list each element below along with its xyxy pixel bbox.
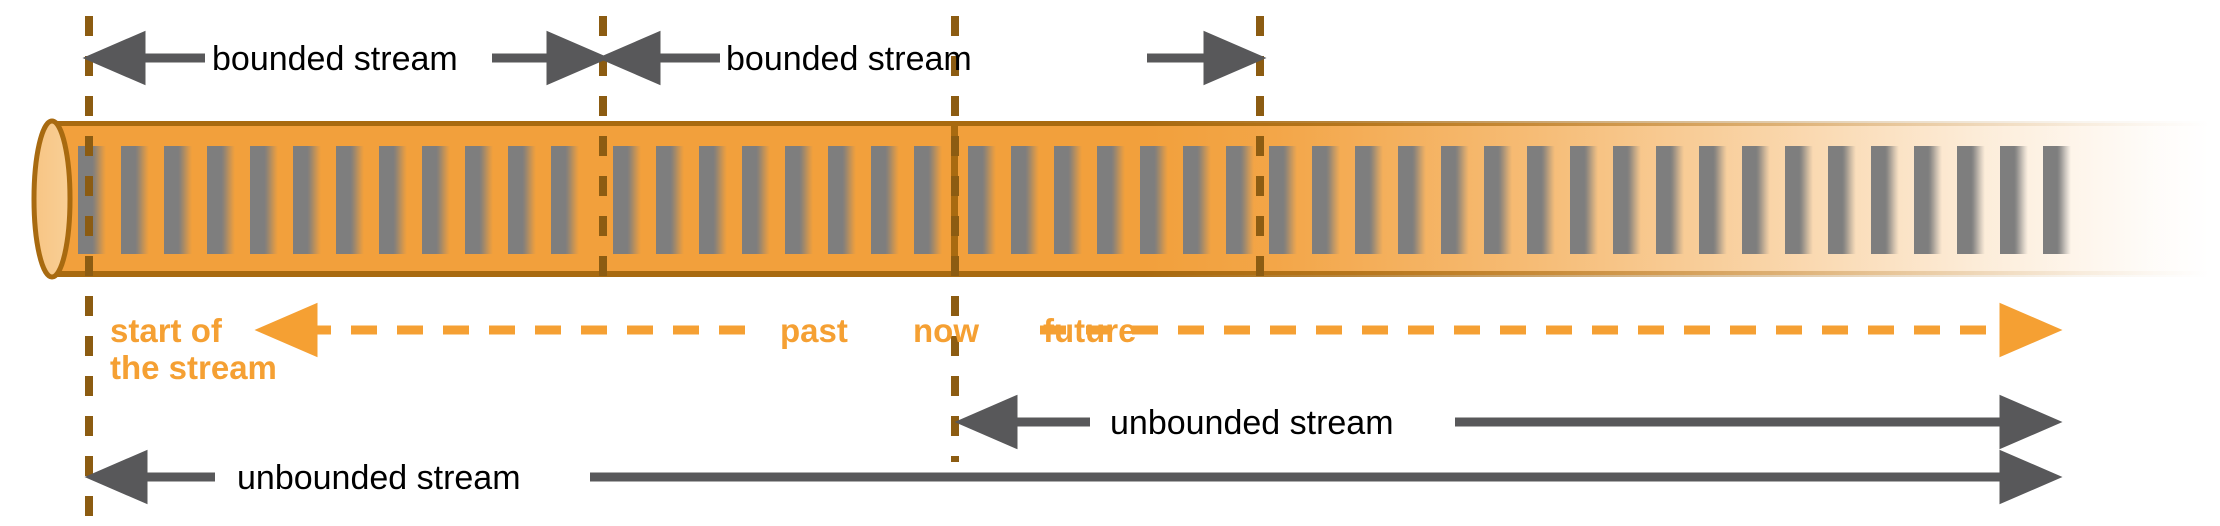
stream-timeline-svg bbox=[0, 0, 2220, 526]
bounded-stream-label-1: bounded stream bbox=[212, 40, 458, 78]
tube-top-edge bbox=[52, 121, 2210, 126]
future-label: future bbox=[1043, 313, 1137, 350]
now-label: now bbox=[913, 313, 979, 350]
tube-left-cap bbox=[34, 121, 70, 277]
bounded-stream-label-2: bounded stream bbox=[726, 40, 972, 78]
start-of-stream-label-line2: the stream bbox=[110, 350, 277, 387]
unbounded-stream-full-label: unbounded stream bbox=[237, 459, 521, 497]
diagram-canvas: bounded stream bounded stream start of t… bbox=[0, 0, 2220, 526]
stream-tube bbox=[34, 121, 2210, 277]
past-label: past bbox=[780, 313, 848, 350]
unbounded-stream-future-label: unbounded stream bbox=[1110, 404, 1394, 442]
tube-bottom-edge bbox=[52, 271, 2210, 277]
start-of-stream-label-line1: start of bbox=[110, 313, 222, 350]
